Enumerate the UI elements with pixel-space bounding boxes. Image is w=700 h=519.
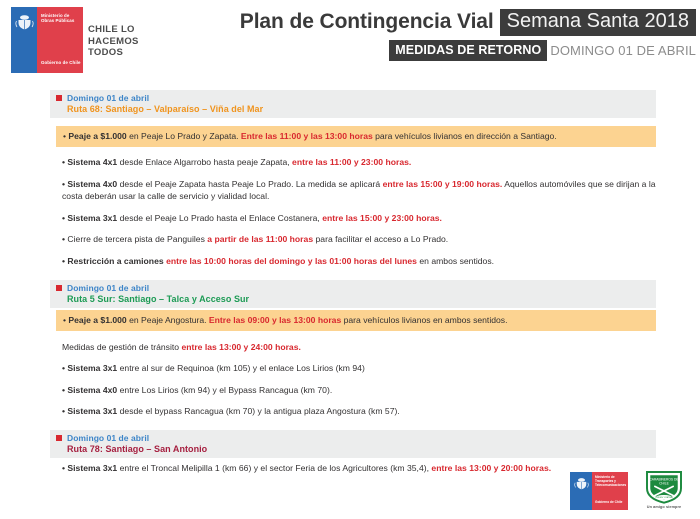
section-dateline: Domingo 01 de abril <box>56 283 650 293</box>
chile-slogan: CHILE LO HACEMOS TODOS <box>88 24 139 59</box>
mtt-red-panel: Ministerio de Transportes y Telecomunica… <box>592 472 628 507</box>
highlighted-measure: • Peaje a $1.000 en Peaje Angostura. Ent… <box>56 310 656 331</box>
mtt-ministry-line3: Telecomunicaciones <box>595 484 626 488</box>
mtt-bar-blue <box>570 507 592 510</box>
logo-government-label: Gobierno de Chile <box>41 60 81 65</box>
chile-slogan-line2: HACEMOS <box>88 36 139 48</box>
square-bullet-icon <box>56 285 62 291</box>
section-route-name: Ruta 5 Sur: Santiago – Talca y Acceso Su… <box>56 294 650 304</box>
section-header-band: Domingo 01 de abrilRuta 68: Santiago – V… <box>50 90 656 118</box>
route-section: Domingo 01 de abrilRuta 5 Sur: Santiago … <box>0 280 700 418</box>
title-event-badge: Semana Santa 2018 <box>500 9 696 36</box>
measure-list: • Sistema 3x1 entre al sur de Requinoa (… <box>0 362 700 418</box>
title-line-primary: Plan de Contingencia Vial Semana Santa 2… <box>196 8 696 36</box>
logo-ministry-name: Ministerio de Obras Públicas <box>41 13 74 24</box>
measure-item: • Cierre de tercera pista de Panguiles a… <box>62 233 656 246</box>
measure-item: • Sistema 4x0 entre Los Lirios (km 94) y… <box>62 384 656 397</box>
chile-slogan-line3: TODOS <box>88 47 139 59</box>
measures-badge: MEDIDAS DE RETORNO <box>389 40 547 61</box>
title-area: Plan de Contingencia Vial Semana Santa 2… <box>196 8 696 61</box>
transit-management-note: Medidas de gestión de tránsito entre las… <box>0 341 700 354</box>
measure-item: • Sistema 3x1 desde el bypass Rancagua (… <box>62 405 656 418</box>
measure-item: • Sistema 4x1 desde Enlace Algarrobo has… <box>62 156 656 169</box>
logo-ministry-line2: Obras Públicas <box>41 18 74 23</box>
logo-bar-blue <box>11 69 37 73</box>
measure-item: • Sistema 3x1 desde el Peaje Lo Prado ha… <box>62 212 656 225</box>
section-date: Domingo 01 de abril <box>67 93 149 103</box>
page-title: Plan de Contingencia Vial <box>240 10 500 34</box>
mtt-flag-block: Ministerio de Transportes y Telecomunica… <box>570 472 628 507</box>
measures-date: DOMINGO 01 DE ABRIL <box>547 43 696 58</box>
carabineros-shield-icon: CARABINEROS DE CHILE ORDEN Y PATRIA <box>644 470 684 504</box>
square-bullet-icon <box>56 95 62 101</box>
logo-blue-panel <box>11 7 37 69</box>
chile-coat-of-arms-icon <box>15 14 34 30</box>
ministerio-transportes-logo: Ministerio de Transportes y Telecomunica… <box>570 472 628 510</box>
chile-slogan-line1: CHILE LO <box>88 24 139 36</box>
chile-coat-of-arms-icon <box>574 477 589 490</box>
section-dateline: Domingo 01 de abril <box>56 433 650 443</box>
mtt-bar-red <box>592 507 628 510</box>
mtt-blue-panel <box>570 472 592 507</box>
logo-flag-block: Ministerio de Obras Públicas Gobierno de… <box>11 7 83 69</box>
section-route-name: Ruta 78: Santiago – San Antonio <box>56 444 650 454</box>
svg-text:ORDEN Y PATRIA: ORDEN Y PATRIA <box>655 496 673 499</box>
section-date: Domingo 01 de abril <box>67 433 149 443</box>
measure-item: • Sistema 4x0 desde el Peaje Zapata hast… <box>62 178 656 203</box>
logo-red-panel: Ministerio de Obras Públicas Gobierno de… <box>37 7 83 69</box>
measure-list: • Sistema 4x1 desde Enlace Algarrobo has… <box>0 156 700 268</box>
mtt-ministry-name: Ministerio de Transportes y Telecomunica… <box>595 476 626 488</box>
content-sections: Domingo 01 de abrilRuta 68: Santiago – V… <box>0 90 700 475</box>
carabineros-shield-wrap: CARABINEROS DE CHILE ORDEN Y PATRIA <box>640 470 688 504</box>
measure-item: • Sistema 3x1 entre al sur de Requinoa (… <box>62 362 656 375</box>
section-route-name: Ruta 68: Santiago – Valparaíso – Viña de… <box>56 104 650 114</box>
page-footer: Ministerio de Transportes y Telecomunica… <box>0 463 700 519</box>
carabineros-logo: CARABINEROS DE CHILE ORDEN Y PATRIA Un a… <box>640 470 688 512</box>
measure-item: • Restricción a camiones entre las 10:00… <box>62 255 656 268</box>
section-date: Domingo 01 de abril <box>67 283 149 293</box>
square-bullet-icon <box>56 435 62 441</box>
title-line-secondary: MEDIDAS DE RETORNO DOMINGO 01 DE ABRIL <box>196 39 696 61</box>
section-dateline: Domingo 01 de abril <box>56 93 650 103</box>
ministerio-obras-publicas-logo: Ministerio de Obras Públicas Gobierno de… <box>11 7 83 75</box>
carabineros-caption: Un amigo siempre <box>640 505 688 509</box>
logo-bottom-bar <box>11 69 83 73</box>
highlighted-measure: • Peaje a $1.000 en Peaje Lo Prado y Zap… <box>56 126 656 147</box>
logo-bar-red <box>37 69 83 73</box>
mtt-government-label: Gobierno de Chile <box>595 500 622 504</box>
section-header-band: Domingo 01 de abrilRuta 5 Sur: Santiago … <box>50 280 656 308</box>
section-header-band: Domingo 01 de abrilRuta 78: Santiago – S… <box>50 430 656 458</box>
route-section: Domingo 01 de abrilRuta 68: Santiago – V… <box>0 90 700 268</box>
page-header: Ministerio de Obras Públicas Gobierno de… <box>0 0 700 82</box>
svg-text:CHILE: CHILE <box>659 481 669 485</box>
mtt-bottom-bar <box>570 507 628 510</box>
